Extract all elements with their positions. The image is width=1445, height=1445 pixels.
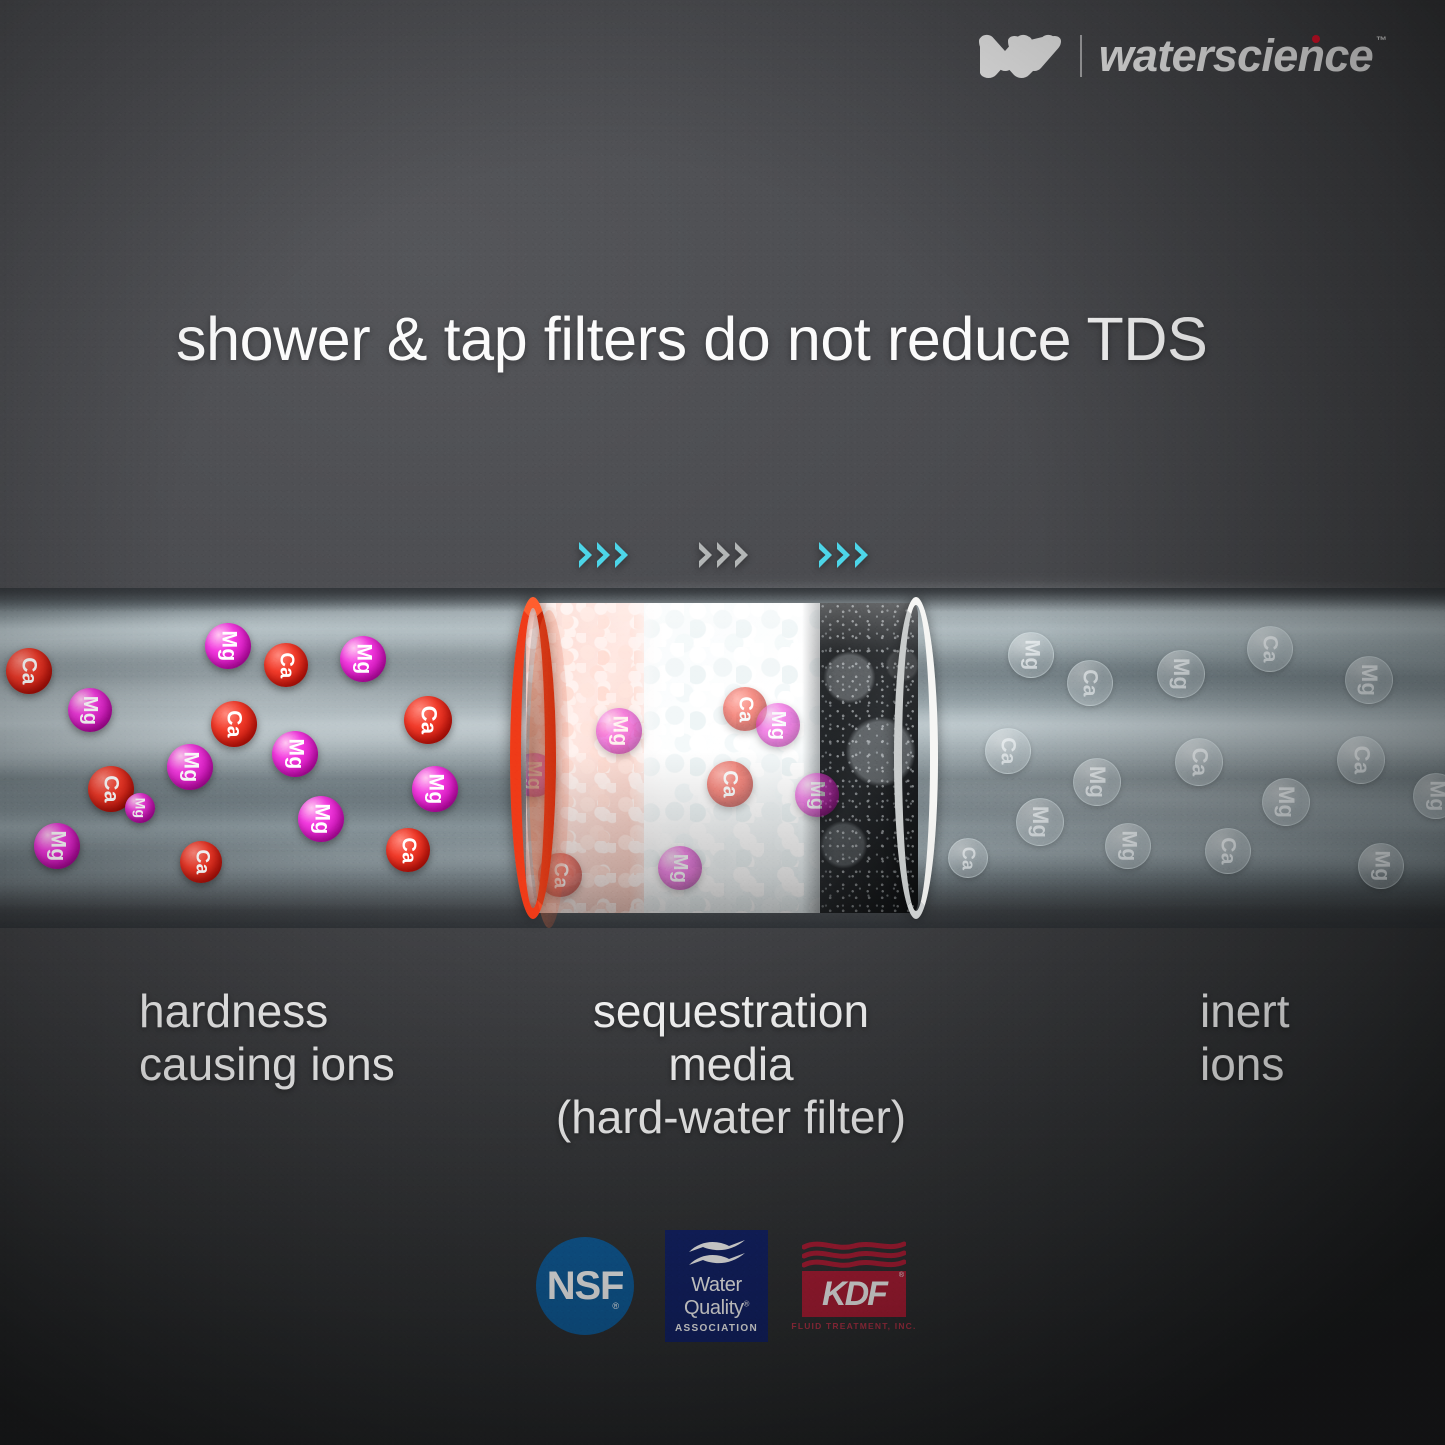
ion-label: Ca [396,837,419,863]
ion-label: Mg [283,739,307,770]
magnesium-ion: Mg [1073,758,1121,806]
page-title: shower & tap filters do not reduce TDS [176,309,1306,370]
nsf-label: NSF [547,1266,623,1306]
ion-label: Mg [351,644,375,675]
calcium-ion: Ca [404,696,452,744]
kdf-label: KDF [822,1277,886,1311]
calcium-ion: Ca [211,701,257,747]
magnesium-ion: Mg [1262,778,1310,826]
calcium-ion: Ca [1247,626,1293,672]
wqa-line-2-text: Quality [684,1297,743,1319]
calcium-ion: Ca [1205,828,1251,874]
calcium-ion: Ca [948,838,988,878]
magnesium-ion: Mg [658,846,702,890]
ion-label: Mg [1424,781,1445,812]
ion-label: Ca [1078,669,1102,696]
ion-label: Ca [415,706,441,735]
ion-label: Mg [178,752,202,783]
ion-label: Ca [996,737,1020,764]
ion-label: Ca [1348,746,1374,775]
poster-canvas: CaMgMgCaMgCaCaMgMgMgCaMgCaMgCaMg MgCaMgC… [0,0,1445,1445]
logo-wordmark: waterscience ™ [1099,33,1387,78]
kdf-waves-icon [802,1241,906,1269]
filter-cartridge: MgCaMgCaMgCaMgMg [504,597,940,919]
ion-label: Mg [1356,664,1382,696]
magnesium-ion: Mg [1345,656,1393,704]
wqa-line-2: Quality® [684,1298,749,1318]
logo-divider [1080,35,1082,77]
ion-label: Mg [423,774,447,805]
certification-badges: NSF ® Water Quality® ASSOCIATION KDF ® [0,1228,1445,1344]
caption-line: (hard-water filter) [536,1091,926,1144]
magnesium-ion: Mg [596,708,642,754]
ion-label: Mg [1273,786,1299,818]
ion-label: Ca [718,770,742,797]
wqa-line-3: ASSOCIATION [675,1323,758,1334]
caption-line: ions [1200,1038,1289,1091]
magnesium-ion: Mg [34,823,80,869]
cartridge-outlet-rim [894,597,938,919]
ion-label: Mg [1019,640,1043,671]
ion-label: Ca [222,710,246,737]
chevron-right-icon [578,540,596,570]
ion-label: Mg [216,631,240,662]
magnesium-ion: Mg [205,623,251,669]
ion-label: Ca [99,775,123,802]
chevron-right-icon [818,540,836,570]
cartridge-inlet-rim [510,597,556,919]
kdf-registered-mark: ® [899,1272,904,1279]
caption-line: sequestration media [536,985,926,1091]
wqa-waves-icon [687,1238,747,1272]
chevron-right-icon [734,540,752,570]
cartridge-inlet-rim-face [529,610,569,928]
caption-hardness-ions: hardness causing ions [139,985,395,1091]
logo-word: waterscience [1099,33,1373,78]
magnesium-ion: Mg [1008,632,1054,678]
calcium-ion: Ca [6,648,52,694]
ion-label: Mg [607,716,631,747]
magnesium-ion: Mg [68,688,112,732]
magnesium-ion: Mg [795,773,839,817]
nsf-badge[interactable]: NSF ® [536,1237,634,1335]
caption-sequestration-media: sequestration media (hard-water filter) [536,985,926,1144]
magnesium-ion: Mg [1016,798,1064,846]
ion-label: Ca [1258,635,1282,662]
magnesium-ion: Mg [272,731,318,777]
ion-label: Ca [1186,748,1212,777]
kdf-badge[interactable]: KDF ® FLUID TREATMENT, INC. [799,1234,909,1338]
wqa-registered-mark: ® [743,1299,749,1308]
ion-label: Ca [190,850,212,875]
calcium-ion: Ca [264,643,308,687]
magnesium-ion: Mg [340,636,386,682]
magnesium-ion: Mg [125,793,155,823]
magnesium-ion: Mg [1105,823,1151,869]
chevron-right-icon [716,540,734,570]
chevron-right-icon [614,540,632,570]
ion-label: Mg [1084,766,1110,798]
wqa-line-1: Water [691,1275,742,1295]
flow-arrow-group-right [818,540,872,570]
ion-label: Mg [766,710,789,739]
flow-arrow-group-middle [698,540,752,570]
cartridge-body: MgCaMgCaMgCaMgMg [526,603,918,913]
ion-label: Mg [309,804,333,835]
magnesium-ion: Mg [756,703,800,747]
caption-line: hardness [139,985,395,1038]
ion-label: Ca [958,846,979,870]
ion-label: Mg [668,853,691,882]
ion-label: Mg [78,695,101,724]
chevron-right-icon [596,540,614,570]
kdf-wordmark-box: KDF ® [802,1271,906,1317]
magnesium-ion: Mg [167,744,213,790]
kdf-subtitle: FLUID TREATMENT, INC. [791,1321,916,1331]
magnesium-ion: Mg [1358,843,1404,889]
magnesium-ion: Mg [298,796,344,842]
magnesium-ion: Mg [412,766,458,812]
calcium-ion: Ca [180,841,222,883]
ion-label: Mg [1168,658,1194,690]
chevron-right-icon [698,540,716,570]
ion-label: Ca [733,696,756,722]
logo-accent-dot [1312,35,1320,43]
wqa-badge[interactable]: Water Quality® ASSOCIATION [665,1230,768,1342]
media-boundary [802,603,836,913]
magnesium-ion: Mg [1157,650,1205,698]
ion-label: Mg [805,780,828,809]
ion-label: Mg [1027,806,1053,838]
ion-label: Mg [132,798,148,819]
ion-label: Mg [1369,851,1393,882]
chevron-right-icon [836,540,854,570]
ion-label: Ca [17,657,41,684]
nsf-registered-mark: ® [612,1301,619,1311]
calcium-ion: Ca [985,728,1031,774]
caption-line: causing ions [139,1038,395,1091]
brand-logo[interactable]: waterscience ™ [977,33,1387,78]
chevron-right-icon [854,540,872,570]
calcium-ion: Ca [1337,736,1385,784]
w-mark-icon [977,34,1063,78]
ion-label: Mg [45,831,69,862]
logo-trademark: ™ [1376,35,1387,47]
calcium-ion: Ca [1175,738,1223,786]
calcium-ion: Ca [707,761,753,807]
flow-arrow-group-left [578,540,632,570]
calcium-ion: Ca [1067,660,1113,706]
ion-label: Ca [1216,837,1240,864]
ion-label: Ca [274,652,297,678]
ion-label: Mg [1116,831,1140,862]
calcium-ion: Ca [386,828,430,872]
caption-line: inert [1200,985,1289,1038]
caption-inert-ions: inert ions [1200,985,1289,1091]
